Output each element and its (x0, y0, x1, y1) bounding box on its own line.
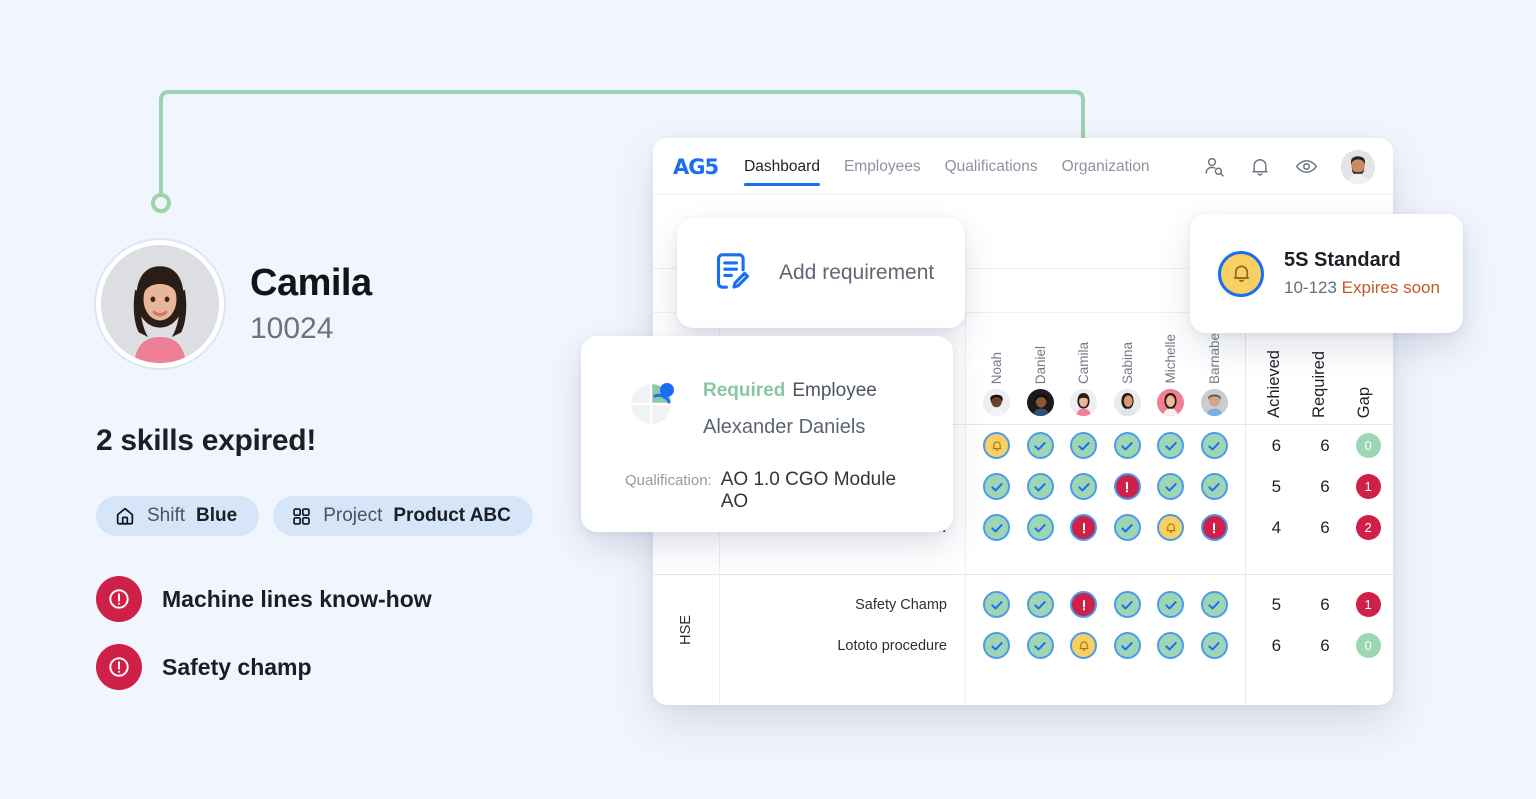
status-badge: 1 (1356, 592, 1381, 617)
bell-icon[interactable] (1248, 155, 1272, 179)
employee-profile-panel: Camila 10024 2 skills expired! Shift Blu… (96, 240, 616, 690)
matrix-stats-column: Achieved Required Gap 6 6 0 5 6 (1245, 313, 1393, 705)
standard-expiry-card[interactable]: 5S Standard 10-123 Expires soon (1190, 214, 1463, 333)
stats-machine: 6 6 0 5 6 1 4 6 2 (1246, 425, 1393, 575)
table-row (966, 625, 1245, 666)
grid-icon (291, 506, 312, 527)
tag-shift-value: Blue (196, 505, 237, 527)
status-badge: 0 (1356, 633, 1381, 658)
tag-shift[interactable]: Shift Blue (96, 496, 259, 536)
achieved-value: 4 (1258, 518, 1294, 538)
table-row: 6 6 0 (1246, 625, 1393, 666)
required-value: 6 (1307, 477, 1343, 497)
screenshot-root: Camila 10024 2 skills expired! Shift Blu… (0, 0, 1536, 799)
table-row: 6 6 0 (1246, 425, 1393, 466)
matrix-cell-ok[interactable] (1114, 432, 1141, 459)
expired-skill-list: Machine lines know-how Safety champ (96, 576, 616, 690)
achieved-value: 6 (1258, 636, 1294, 656)
matrix-cell-ok[interactable] (1157, 591, 1184, 618)
achieved-value: 5 (1258, 595, 1294, 615)
person-column-sabina[interactable]: Sabina (1109, 342, 1145, 416)
required-value: 6 (1307, 595, 1343, 615)
avatar (1027, 389, 1054, 416)
home-icon (114, 505, 136, 527)
column-header-required: Required (1310, 351, 1329, 418)
required-line: RequiredEmployee (703, 380, 877, 402)
table-row (966, 584, 1245, 625)
standard-title: 5S Standard (1284, 249, 1440, 272)
matrix-cell-ok[interactable] (983, 632, 1010, 659)
matrix-cell-ok[interactable] (1070, 432, 1097, 459)
avatar (1201, 389, 1228, 416)
matrix-cell-ok[interactable] (1027, 514, 1054, 541)
person-column-camila[interactable]: Camila (1066, 342, 1102, 416)
bell-icon (1218, 251, 1264, 297)
cells-machine (966, 425, 1245, 575)
tag-project[interactable]: Project Product ABC (273, 496, 533, 536)
matrix-cell-warn[interactable] (983, 432, 1010, 459)
matrix-cell-warn[interactable] (1157, 514, 1184, 541)
list-item: Safety champ (96, 644, 616, 690)
topbar-actions (1202, 150, 1375, 184)
main-nav: Dashboard Employees Qualifications Organ… (744, 138, 1149, 195)
person-column-barnabe[interactable]: Barnabe (1196, 333, 1232, 416)
matrix-cell-ok[interactable] (1114, 514, 1141, 541)
required-value: 6 (1307, 436, 1343, 456)
tab-organization[interactable]: Organization (1062, 138, 1150, 195)
add-requirement-label: Add requirement (779, 261, 934, 285)
matrix-cell-err[interactable] (1070, 514, 1097, 541)
achieved-value: 6 (1258, 436, 1294, 456)
list-item: Machine lines know-how (96, 576, 616, 622)
matrix-cell-ok[interactable] (1157, 632, 1184, 659)
tab-employees[interactable]: Employees (844, 138, 921, 195)
cells-hse (966, 575, 1245, 685)
table-row: 5 6 1 (1246, 466, 1393, 507)
avatar-illustration (1341, 150, 1375, 184)
table-row[interactable]: Safety Champ (720, 584, 965, 625)
matrix-cell-err[interactable] (1114, 473, 1141, 500)
required-employee-head: RequiredEmployee Alexander Daniels (625, 374, 923, 439)
tab-dashboard[interactable]: Dashboard (744, 138, 820, 195)
avatar (983, 389, 1010, 416)
matrix-cell-ok[interactable] (983, 514, 1010, 541)
matrix-cell-ok[interactable] (1157, 432, 1184, 459)
avatar (1070, 389, 1097, 416)
matrix-cell-ok[interactable] (1201, 632, 1228, 659)
column-header-achieved: Achieved (1265, 350, 1284, 418)
qualification-value: AO 1.0 CGO Module AO (721, 469, 923, 513)
add-requirement-card[interactable]: Add requirement (677, 218, 965, 328)
matrix-cell-err[interactable] (1201, 514, 1228, 541)
status-badge: Expires soon (1342, 278, 1440, 297)
table-row[interactable]: Lototo procedure (720, 625, 965, 666)
pie-person-icon (625, 374, 681, 435)
matrix-cell-ok[interactable] (1201, 473, 1228, 500)
expired-skills-message: 2 skills expired! (96, 424, 616, 458)
page-title: Camila (250, 262, 372, 306)
matrix-cell-err[interactable] (1070, 591, 1097, 618)
matrix-cell-ok[interactable] (1027, 473, 1054, 500)
achieved-value: 5 (1258, 477, 1294, 497)
matrix-cell-ok[interactable] (1201, 432, 1228, 459)
alert-icon (96, 576, 142, 622)
tab-qualifications[interactable]: Qualifications (945, 138, 1038, 195)
matrix-cell-ok[interactable] (1157, 473, 1184, 500)
qualification-row: Qualification: AO 1.0 CGO Module AO (625, 469, 923, 513)
table-row: 4 6 2 (1246, 507, 1393, 548)
table-row: 5 6 1 (1246, 584, 1393, 625)
status-badge: 2 (1356, 515, 1381, 540)
employee-name: Alexander Daniels (703, 416, 877, 439)
table-row (966, 425, 1245, 466)
person-column-noah[interactable]: Noah (979, 352, 1015, 416)
profile-identity: Camila 10024 (250, 262, 372, 346)
app-logo[interactable]: AG5 (673, 155, 718, 179)
person-name: Daniel (1033, 346, 1048, 384)
required-label: Required (703, 380, 785, 401)
required-value: 6 (1307, 636, 1343, 656)
person-column-michelle[interactable]: Michelle (1153, 334, 1189, 416)
profile-header: Camila 10024 (96, 240, 616, 368)
person-name: Barnabe (1207, 333, 1222, 384)
avatar (96, 240, 224, 368)
standard-subtitle: 10-123 Expires soon (1284, 278, 1440, 298)
matrix-cell-ok[interactable] (1027, 632, 1054, 659)
tag-shift-label: Shift (147, 505, 185, 527)
matrix-cell-ok[interactable] (1201, 591, 1228, 618)
expired-skill-label: Safety champ (162, 654, 312, 681)
person-name: Camila (1076, 342, 1091, 384)
standard-code: 10-123 (1284, 278, 1337, 297)
profile-tags: Shift Blue Project Product ABC (96, 496, 616, 536)
document-edit-icon (709, 249, 753, 298)
table-row (966, 466, 1245, 507)
standard-text: 5S Standard 10-123 Expires soon (1284, 249, 1440, 298)
person-name: Sabina (1120, 342, 1135, 384)
avatar-illustration (101, 245, 219, 363)
user-avatar[interactable] (1341, 150, 1375, 184)
app-topbar: AG5 Dashboard Employees Qualifications O… (653, 138, 1393, 195)
qualification-label: Qualification: (625, 472, 712, 489)
required-employee-text: RequiredEmployee Alexander Daniels (703, 374, 877, 439)
tag-project-label: Project (323, 505, 382, 527)
rownames-hse: Safety Champ Lototo procedure (720, 575, 965, 685)
matrix-cell-ok[interactable] (983, 473, 1010, 500)
matrix-cell-ok[interactable] (983, 591, 1010, 618)
alert-icon (96, 644, 142, 690)
user-search-icon[interactable] (1202, 155, 1226, 179)
person-name: Michelle (1163, 334, 1178, 384)
matrix-cell-ok[interactable] (1027, 591, 1054, 618)
category-label: HSE (678, 615, 694, 645)
person-column-daniel[interactable]: Daniel (1022, 346, 1058, 416)
person-name: Noah (989, 352, 1004, 384)
required-value: 6 (1307, 518, 1343, 538)
required-employee-card: RequiredEmployee Alexander Daniels Quali… (581, 336, 953, 532)
matrix-cell-ok[interactable] (1027, 432, 1054, 459)
column-header-gap: Gap (1355, 387, 1374, 418)
category-group-hse: HSE (653, 575, 719, 685)
matrix-cell-ok[interactable] (1114, 632, 1141, 659)
eye-icon[interactable] (1294, 154, 1319, 179)
matrix-cell-ok[interactable] (1070, 473, 1097, 500)
stats-hse: 5 6 1 6 6 0 (1246, 575, 1393, 685)
employee-id: 10024 (250, 312, 372, 346)
tag-project-value: Product ABC (393, 505, 511, 527)
table-row (966, 507, 1245, 548)
avatar (1157, 389, 1184, 416)
employee-label: Employee (792, 380, 877, 401)
avatar (1114, 389, 1141, 416)
expired-skill-label: Machine lines know-how (162, 586, 432, 613)
matrix-cells-column: Noah Daniel Camila (965, 313, 1245, 705)
matrix-cell-ok[interactable] (1114, 591, 1141, 618)
status-badge: 0 (1356, 433, 1381, 458)
matrix-cell-warn[interactable] (1070, 632, 1097, 659)
status-badge: 1 (1356, 474, 1381, 499)
